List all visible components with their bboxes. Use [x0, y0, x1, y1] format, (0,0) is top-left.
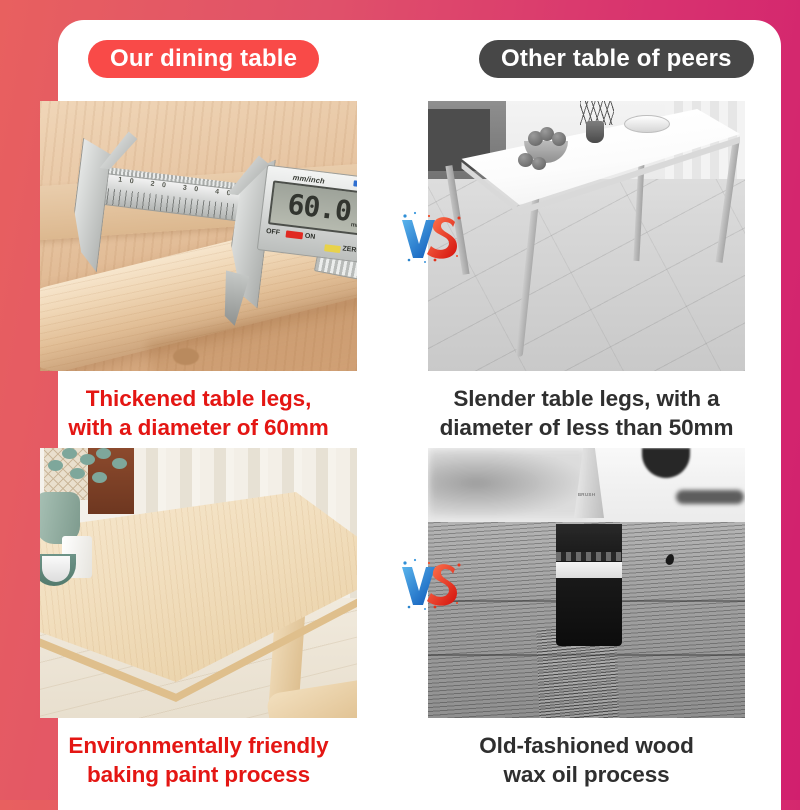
- caliper-lcd-unit: mm: [350, 222, 357, 229]
- photo-baked-paint-wood-table: [40, 448, 357, 718]
- caption-line-1: Environmentally friendly: [40, 732, 357, 761]
- caption-peers-finish: Old-fashioned wood wax oil process: [428, 732, 745, 790]
- caliper-on-label: ON: [304, 233, 315, 241]
- photo-white-table-slim-legs: [428, 101, 745, 371]
- photo-caliper-wooden-leg: 0 10 20 30 40 50 60 mm/inch 60.0 mm: [40, 101, 357, 371]
- caption-line-1: Slender table legs, with a: [428, 385, 745, 414]
- caption-peers-legs: Slender table legs, with a diameter of l…: [428, 385, 745, 443]
- header-badge-ours-label: Our dining table: [110, 45, 297, 73]
- caption-line-1: Old-fashioned wood: [428, 732, 745, 761]
- vs-badge-top: [399, 208, 461, 264]
- caption-line-2: diameter of less than 50mm: [428, 414, 745, 443]
- caliper-lcd: 60.0 mm: [268, 180, 357, 236]
- caliper-zero-label: ZERO: [342, 245, 357, 254]
- caption-line-2: wax oil process: [428, 761, 745, 790]
- caliper-lcd-value: 60.0: [286, 190, 352, 226]
- header-badge-peers-label: Other table of peers: [501, 45, 732, 73]
- comparison-cell-peers-finish: BRUSH Old-fashioned wood wax oil process: [428, 448, 745, 790]
- caliper-mode-button[interactable]: [353, 180, 357, 188]
- content-card: Our dining table Other table of peers 0 …: [58, 20, 781, 810]
- vs-badge-bottom: [399, 555, 461, 611]
- comparison-cell-ours-legs: 0 10 20 30 40 50 60 mm/inch 60.0 mm: [40, 101, 357, 443]
- caption-line-2: with a diameter of 60mm: [40, 414, 357, 443]
- caliper-zero-button[interactable]: [324, 244, 341, 253]
- comparison-cell-peers-legs: Slender table legs, with a diameter of l…: [428, 101, 745, 443]
- caliper-power-button[interactable]: [285, 230, 303, 239]
- header-badge-ours: Our dining table: [88, 40, 319, 78]
- comparison-cell-ours-finish: Environmentally friendly baking paint pr…: [40, 448, 357, 790]
- caption-line-1: Thickened table legs,: [40, 385, 357, 414]
- caliper-off-label: OFF: [266, 228, 281, 237]
- caption-ours-finish: Environmentally friendly baking paint pr…: [40, 732, 357, 790]
- digital-caliper: 0 10 20 30 40 50 60 mm/inch 60.0 mm: [61, 120, 357, 354]
- header-badge-peers: Other table of peers: [479, 40, 754, 78]
- caption-line-2: baking paint process: [40, 761, 357, 790]
- photo-wax-oil-brush-wood: BRUSH: [428, 448, 745, 718]
- caption-ours-legs: Thickened table legs, with a diameter of…: [40, 385, 357, 443]
- caliper-display-body: mm/inch 60.0 mm OFF ON ZERO: [257, 165, 357, 265]
